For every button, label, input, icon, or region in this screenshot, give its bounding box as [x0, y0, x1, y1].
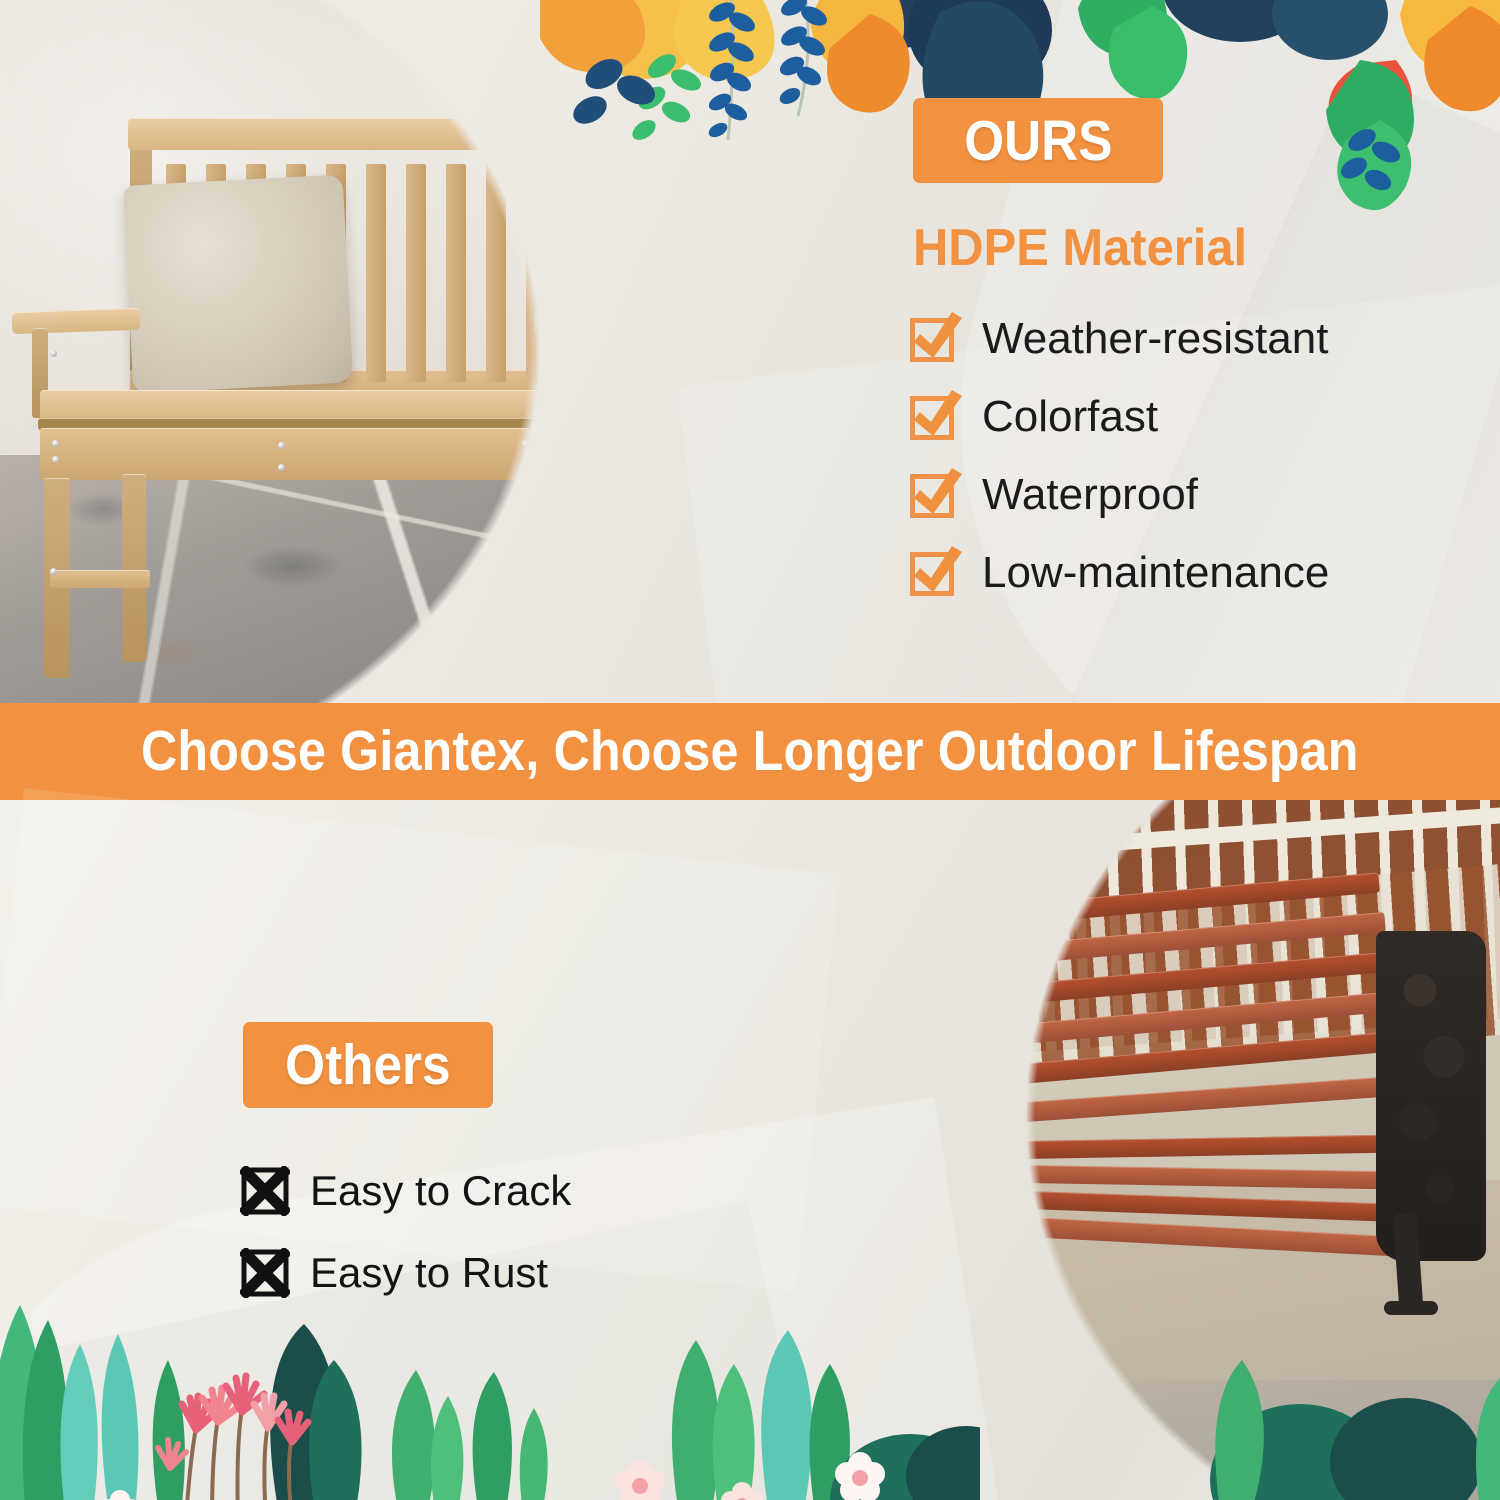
checkbox-checked-icon [908, 312, 962, 366]
feature-label: Waterproof [982, 470, 1198, 520]
tagline-text: Choose Giantex, Choose Longer Outdoor Li… [141, 723, 1359, 780]
checkbox-checked-icon [908, 546, 962, 600]
others-product-photo [770, 800, 1500, 1500]
others-badge: Others [243, 1022, 493, 1108]
drawback-label: Easy to Rust [310, 1249, 548, 1297]
ours-feature-list: Weather-resistant Colorfast Waterproof [908, 300, 1428, 612]
ours-badge: OURS [913, 98, 1163, 183]
ours-badge-label: OURS [964, 108, 1112, 174]
cast-iron-arm-left [800, 955, 910, 1255]
hdpe-bench-illustration [10, 118, 630, 638]
feature-label: Colorfast [982, 392, 1158, 442]
cast-iron-arm-right [1376, 931, 1486, 1261]
throw-pillow [123, 174, 354, 393]
rusted-bench-illustration [800, 895, 1480, 1335]
drawback-label: Easy to Crack [310, 1167, 571, 1215]
tagline-banner: Choose Giantex, Choose Longer Outdoor Li… [0, 703, 1500, 800]
drawback-item: Easy to Crack [240, 1150, 700, 1232]
checkbox-crossed-icon [240, 1248, 290, 1298]
infographic-canvas: OURS HDPE Material Weather-resistant Col… [0, 0, 1500, 1500]
feature-label: Low-maintenance [982, 548, 1329, 598]
others-badge-label: Others [285, 1032, 450, 1098]
feature-item: Colorfast [908, 378, 1428, 456]
feature-item: Waterproof [908, 456, 1428, 534]
checkbox-checked-icon [908, 390, 962, 444]
others-drawback-list: Easy to Crack Easy to Rust [240, 1150, 700, 1314]
ours-product-photo [0, 0, 860, 703]
feature-label: Weather-resistant [982, 314, 1328, 364]
hdpe-material-heading: HDPE Material [913, 222, 1268, 274]
feature-item: Low-maintenance [908, 534, 1428, 612]
feature-item: Weather-resistant [908, 300, 1428, 378]
drawback-item: Easy to Rust [240, 1232, 700, 1314]
checkbox-crossed-icon [240, 1166, 290, 1216]
checkbox-checked-icon [908, 468, 962, 522]
